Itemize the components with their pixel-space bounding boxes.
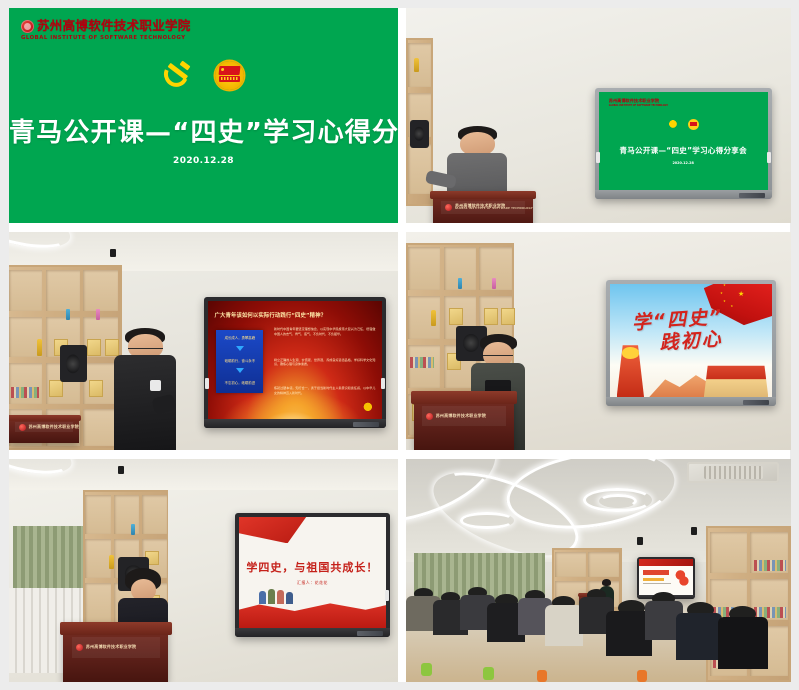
ceiling-spotlight-icon: [110, 249, 116, 257]
slide-paragraph: 树立正确的人生观、价值观、世界观，养成良好道德品格，学好科学文化知识，锤炼心理与…: [274, 358, 375, 367]
wall-display: 广大青年该如何以实际行动践行“四史”精神？ 成长成人，勇攀高峰 砥砺前行，奋斗永…: [204, 297, 387, 428]
podium-seal-icon: [76, 644, 83, 651]
collage-cell-opening-speaker: 苏州高博软件技术职业学院 GLOBAL INSTITUTE OF SOFTWAR…: [406, 8, 791, 223]
display-screen: ★ ★ ★ ★ ★ 学“四史” 践初心: [610, 284, 771, 397]
flow-item: 砥砺前行，奋斗永不: [220, 358, 260, 363]
loudspeaker: [60, 345, 87, 382]
collage-cell-red-slide-speaker: 苏州高博软件技术职业学院 广大青年该如何以实际行动践行“四史”精神？ 成长成人，…: [9, 232, 398, 450]
cpc-emblem-icon: [668, 119, 679, 130]
institution-logo: 苏州高博软件技术职业学院 GLOBAL INSTITUTE OF SOFTWAR…: [21, 20, 206, 41]
photo-student-speaker-sihistory-slide: ★ ★ ★ ★ ★ 学“四史” 践初心: [406, 232, 791, 450]
collage-cell-grow-slide-speaker: 学四史，与祖国共成长！ 汇报人：花花花: [9, 459, 398, 682]
ceiling-spotlight-icon: [637, 537, 643, 545]
podium-label: 苏州高博软件技术职业学院: [86, 645, 136, 650]
collage-cell-sihistory-slide-speaker: ★ ★ ★ ★ ★ 学“四史” 践初心: [406, 232, 791, 450]
audience-seating: [406, 579, 791, 682]
ceiling-air-conditioner: [687, 462, 779, 483]
institution-seal-icon: [21, 20, 34, 33]
photo-collage: 苏州高博软件技术职业学院 GLOBAL INSTITUTE OF SOFTWAR…: [0, 0, 799, 690]
displayed-slide-title: 广大青年该如何以实际行动践行“四史”精神？: [214, 311, 375, 319]
cyl-emblem-icon: [688, 119, 699, 130]
podium[interactable]: 苏州高博软件技术职业学院: [414, 391, 514, 450]
cpc-emblem-icon: [362, 401, 375, 414]
displayed-slide-title: 学四史，与祖国共成长！: [239, 559, 387, 575]
cpc-hammer-sickle-emblem-icon: [163, 60, 193, 90]
slide-title: 青马公开课—“四史”学习心得分享会: [9, 112, 398, 149]
photo-student-speaker-red-slide: 苏州高博软件技术职业学院 广大青年该如何以实际行动践行“四史”精神？ 成长成人，…: [9, 232, 398, 450]
emblem-row: [9, 60, 398, 90]
displayed-slide-date: 2020.12.28: [599, 161, 768, 165]
display-screen: 广大青年该如何以实际行动践行“四史”精神？ 成长成人，勇攀高峰 砥砺前行，奋斗永…: [208, 301, 383, 419]
wall-display: 学四史，与祖国共成长！ 汇报人：花花花: [235, 513, 391, 638]
photo-audience-wide-shot: [406, 459, 791, 682]
podium-label-en: GLOBAL INSTITUTE OF SOFTWARE TECHNOLOGY: [455, 208, 533, 211]
event-title-slide: 苏州高博软件技术职业学院 GLOBAL INSTITUTE OF SOFTWAR…: [9, 8, 398, 223]
calligraphy-line-2: 践初心: [658, 322, 753, 355]
displayed-slide-calligraphy: 学“四史” 践初心: [631, 300, 755, 374]
podium-label: 苏州高博软件技术职业学院GLOBAL INSTITUTE OF SOFTWARE…: [455, 204, 533, 212]
slide-emblems: [599, 119, 768, 130]
collage-cell-title-slide: 苏州高博软件技术职业学院 GLOBAL INSTITUTE OF SOFTWAR…: [9, 8, 398, 223]
slide-date: 2020.12.28: [9, 156, 398, 166]
podium-seal-icon: [445, 204, 452, 211]
podium-seal-icon: [19, 424, 26, 431]
displayed-slide-subtitle: 汇报人：花花花: [239, 580, 387, 586]
displayed-slide: 学四史，与祖国共成长！ 汇报人：花花花: [239, 517, 387, 629]
slide-paragraph: 新时代中国青年要坚定理想信念，以实现中华民族伟大复兴为己任，增强做中国人的志气、…: [274, 327, 375, 336]
displayed-slide: 广大青年该如何以实际行动践行“四史”精神？ 成长成人，勇攀高峰 砥砺前行，奋斗永…: [208, 301, 383, 419]
podium-seal-icon: [426, 413, 433, 420]
collage-grid: 苏州高博软件技术职业学院 GLOBAL INSTITUTE OF SOFTWAR…: [9, 8, 790, 682]
podium[interactable]: 苏州高博软件技术职业学院: [63, 622, 168, 682]
display-screen: 学四史，与祖国共成长！ 汇报人：花花花: [239, 517, 387, 629]
display-screen: 苏州高博软件技术职业学院 GLOBAL INSTITUTE OF SOFTWAR…: [599, 92, 768, 191]
photo-opening-speaker: 苏州高博软件技术职业学院 GLOBAL INSTITUTE OF SOFTWAR…: [406, 8, 791, 223]
podium[interactable]: 苏州高博软件技术职业学院: [9, 415, 79, 443]
collage-cell-audience: [406, 459, 791, 682]
displayed-slide: 苏州高博软件技术职业学院 GLOBAL INSTITUTE OF SOFTWAR…: [599, 92, 768, 191]
ceiling-spotlight-icon: [691, 527, 697, 535]
institution-name-cn: 苏州高博软件技术职业学院: [37, 20, 191, 33]
flow-item: 成长成人，勇攀高峰: [220, 335, 260, 340]
displayed-slide: ★ ★ ★ ★ ★ 学“四史” 践初心: [610, 284, 771, 397]
podium[interactable]: 苏州高博软件技术职业学院GLOBAL INSTITUTE OF SOFTWARE…: [433, 191, 533, 223]
institution-name-en: GLOBAL INSTITUTE OF SOFTWARE TECHNOLOGY: [21, 35, 206, 41]
podium-label: 苏州高博软件技术职业学院: [29, 425, 79, 430]
ceiling-spotlight-icon: [118, 466, 124, 474]
communist-youth-league-emblem-icon: [215, 61, 244, 90]
displayed-slide-title: 青马公开课—“四史”学习心得分享会: [599, 145, 768, 156]
wall-display: ★ ★ ★ ★ ★ 学“四史” 践初心: [606, 280, 775, 406]
podium-label: 苏州高博软件技术职业学院: [436, 414, 486, 419]
slide-logo-en: GLOBAL INSTITUTE OF SOFTWARE TECHNOLOGY: [609, 104, 668, 107]
wall-display: 苏州高博软件技术职业学院 GLOBAL INSTITUTE OF SOFTWAR…: [595, 88, 772, 200]
photo-female-speaker-grow-slide: 学四史，与祖国共成长！ 汇报人：花花花: [9, 459, 398, 682]
ceiling-light-spiral-2: [460, 512, 514, 528]
speaker-person: [114, 328, 176, 450]
loudspeaker: [410, 120, 429, 148]
slide-illustration: [259, 589, 293, 604]
